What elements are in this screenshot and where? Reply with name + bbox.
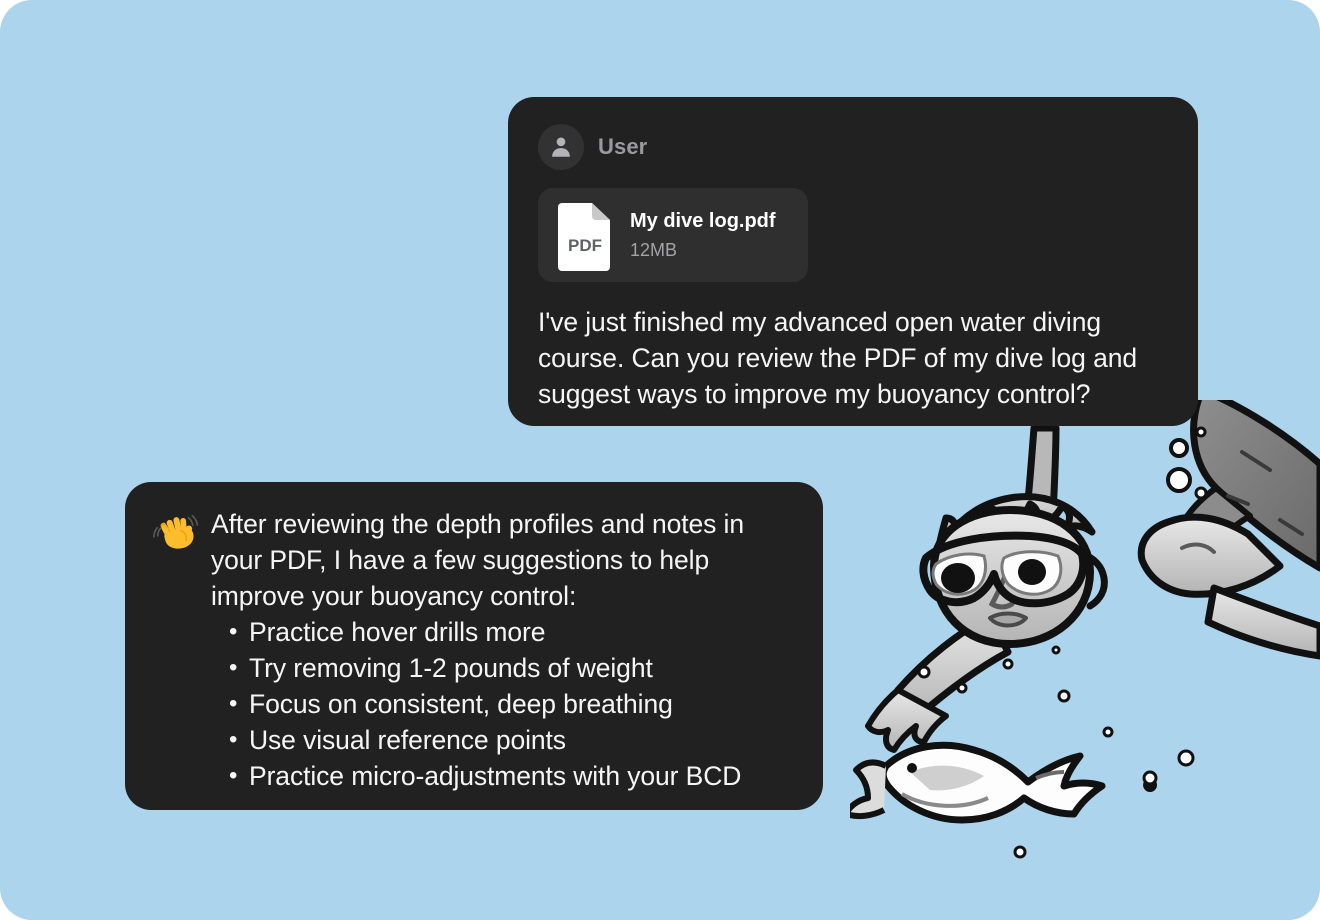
list-item: Practice hover drills more	[249, 614, 795, 650]
snorkeler-underwater-illustration	[850, 400, 1320, 920]
snorkel-icon	[1026, 424, 1056, 577]
diver-left-arm	[868, 616, 1008, 750]
diver-right-arm	[1208, 588, 1320, 656]
assistant-message-bubble: After reviewing the depth profiles and n…	[125, 482, 823, 810]
bubble-cluster-lower	[1015, 728, 1193, 857]
diver-head	[934, 510, 1090, 644]
assistant-message-body: After reviewing the depth profiles and n…	[211, 506, 795, 794]
list-item: Try removing 1-2 pounds of weight	[249, 650, 795, 686]
diver-wetsuit-arm	[1182, 400, 1320, 568]
dive-mask-icon	[923, 536, 1104, 606]
pdf-file-icon: PDF	[556, 199, 614, 271]
fish-icon	[850, 745, 1102, 820]
user-author-name: User	[598, 134, 647, 160]
attachment-meta: My dive log.pdf 12MB	[630, 210, 776, 261]
attachment-card[interactable]: PDF My dive log.pdf 12MB	[538, 188, 808, 282]
diver-torso	[1141, 517, 1280, 594]
svg-text:PDF: PDF	[568, 236, 602, 255]
attachment-file-size: 12MB	[630, 240, 776, 261]
waving-hand-emoji	[153, 511, 199, 557]
user-message-header: User	[538, 123, 1168, 171]
bubble-cluster-head	[919, 647, 1069, 701]
list-item: Use visual reference points	[249, 722, 795, 758]
suggestions-list: Practice hover drills more Try removing …	[211, 614, 795, 794]
user-message-bubble: User PDF My dive log.pdf 12MB I've just …	[508, 97, 1198, 426]
assistant-intro-text: After reviewing the depth profiles and n…	[211, 506, 795, 614]
attachment-file-name: My dive log.pdf	[630, 210, 776, 233]
list-item: Focus on consistent, deep breathing	[249, 686, 795, 722]
page-canvas: User PDF My dive log.pdf 12MB I've just …	[0, 0, 1320, 920]
user-message-text: I've just finished my advanced open wate…	[538, 304, 1168, 412]
user-avatar-icon	[538, 124, 584, 170]
list-item: Practice micro-adjustments with your BCD	[249, 758, 795, 794]
diver-hair	[936, 497, 1092, 564]
